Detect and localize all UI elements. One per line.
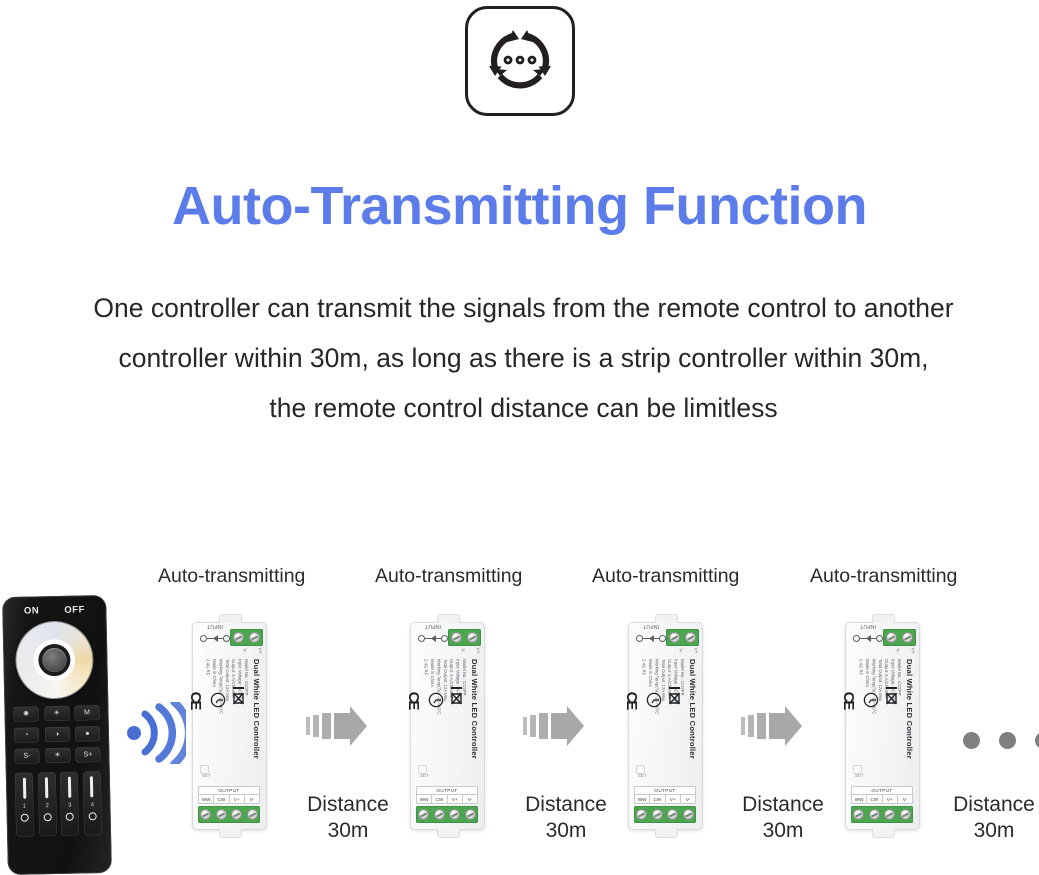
transmission-arrow-3 (741, 706, 803, 751)
distance-label-2: Distance 30m (512, 792, 620, 844)
zone-dot-icon[interactable] (66, 813, 74, 821)
input-marking: INPUT (418, 631, 448, 647)
terminal-screw (200, 809, 211, 820)
description-text: One controller can transmit the signals … (38, 283, 1009, 433)
remote-button-r1c2[interactable]: ☀ (44, 706, 69, 722)
zone-number: 4 (91, 802, 94, 808)
certification-marks: CE (840, 683, 898, 717)
out-term: WW (199, 795, 214, 803)
input-label: INPUT (636, 623, 666, 629)
transmission-arrow-2 (523, 706, 585, 751)
remote-button-r1c3[interactable]: M (74, 705, 99, 721)
input-polarity-labels: V- V+ (878, 648, 916, 653)
remote-off-button[interactable]: OFF (64, 604, 85, 615)
weee-crossed-bin-icon (450, 685, 463, 715)
out-term: V- (245, 795, 259, 803)
remote-button-row-2: ◔ ◑ ● (14, 726, 100, 743)
ce-mark: CE (623, 692, 640, 709)
auto-transmitting-label-2: Auto-transmitting (375, 565, 522, 588)
out-term: CW (867, 795, 882, 803)
terminal-screw (853, 809, 864, 820)
remote-zone-slider-2[interactable]: 2 (37, 772, 56, 836)
input-marking: INPUT (636, 631, 666, 647)
led-controller-3: INPUT V- V+ Dual White LED Controller Mo… (628, 622, 703, 830)
input-polarity-labels: V- V+ (225, 648, 263, 653)
terminal-screw (869, 809, 880, 820)
wireless-signal-icon (126, 702, 186, 769)
mount-tab-top (219, 614, 242, 623)
terminal-screw (884, 809, 895, 820)
remote-button-r2c1[interactable]: ◔ (14, 727, 39, 743)
top-icon-container (0, 6, 1039, 116)
rohs-circle-icon (863, 692, 879, 708)
distance-label-4: Distance 30m (940, 792, 1039, 844)
zone-dot-icon[interactable] (89, 812, 97, 820)
remote-zone-slider-1[interactable]: 1 (15, 773, 34, 837)
out-term: V- (681, 795, 695, 803)
terminal-screw (467, 632, 478, 643)
transmission-diagram: Auto-transmitting Auto-transmitting Auto… (0, 560, 1039, 875)
distance-word: Distance (294, 792, 402, 818)
terminal-screw (685, 632, 696, 643)
output-label: OUTPUT (199, 787, 259, 795)
input-terminal-block (666, 629, 699, 646)
output-legend: OUTPUT WW CW V+ V- (416, 786, 478, 804)
set-label: SET (420, 773, 429, 778)
terminal-screw (233, 632, 244, 643)
ce-mark: CE (840, 692, 857, 709)
out-term: WW (635, 795, 650, 803)
ce-mark: CE (187, 692, 204, 709)
distance-value: 30m (512, 818, 620, 844)
output-terminal-block (851, 806, 913, 823)
input-marking: INPUT (200, 631, 230, 647)
distance-label-3: Distance 30m (729, 792, 837, 844)
set-label: SET (855, 773, 864, 778)
terminal-screw (247, 809, 258, 820)
polarity-plus: V+ (476, 648, 481, 654)
terminal-screw (216, 809, 227, 820)
distance-word: Distance (729, 792, 837, 818)
remote-zone-sliders: 1 2 3 4 (15, 771, 102, 837)
terminal-screw (231, 809, 242, 820)
out-term: WW (417, 795, 432, 803)
terminal-screw (465, 809, 476, 820)
remote-button-r2c3[interactable]: ● (75, 726, 100, 742)
remote-button-row-3: S- ☀ S+ (14, 747, 100, 764)
mount-tab-top (872, 614, 895, 623)
weee-crossed-bin-icon (885, 685, 898, 715)
zone-dot-icon[interactable] (43, 813, 51, 821)
remote-button-r2c2[interactable]: ◑ (44, 727, 69, 743)
input-polarity-labels: V- V+ (661, 648, 699, 653)
terminal-screw (667, 809, 678, 820)
distance-label-1: Distance 30m (294, 792, 402, 844)
led-controller-2: INPUT V- V+ Dual White LED Controller Mo… (410, 622, 485, 830)
description-line-2: controller within 30m, as long as there … (38, 333, 1009, 383)
distance-word: Distance (512, 792, 620, 818)
rohs-circle-icon (210, 692, 226, 708)
output-terminal-names: WW CW V+ V- (635, 795, 695, 803)
output-terminal-names: WW CW V+ V- (852, 795, 912, 803)
certification-marks: CE (187, 683, 245, 717)
controller-title: Dual White LED Controller (905, 659, 914, 759)
terminal-screw (900, 809, 911, 820)
polarity-minus: V- (242, 648, 247, 652)
out-term: V- (898, 795, 912, 803)
remote-zone-slider-4[interactable]: 4 (83, 771, 102, 835)
terminal-screw (652, 809, 663, 820)
output-terminal-block (198, 806, 260, 823)
remote-button-r3c2[interactable]: ☀ (45, 748, 70, 764)
description-line-3: the remote control distance can be limit… (38, 383, 1009, 433)
auto-transmit-circular-arrows-icon (483, 24, 557, 98)
output-legend: OUTPUT WW CW V+ V- (851, 786, 913, 804)
polarity-minus: V- (678, 648, 683, 652)
out-term: CW (650, 795, 665, 803)
mount-tab-bottom (655, 829, 678, 838)
input-label: INPUT (853, 623, 883, 629)
input-label: INPUT (418, 623, 448, 629)
mount-tab-top (437, 614, 460, 623)
input-marking: INPUT (853, 631, 883, 647)
controller-title: Dual White LED Controller (470, 659, 479, 759)
controller-title: Dual White LED Controller (688, 659, 697, 759)
terminal-screw (669, 632, 680, 643)
polarity-plus: V+ (911, 648, 916, 654)
transmission-arrow-1 (306, 706, 368, 751)
input-label: INPUT (200, 623, 230, 629)
auto-transmitting-label-4: Auto-transmitting (810, 565, 957, 588)
remote-button-r3c3[interactable]: S+ (75, 747, 100, 763)
output-terminal-names: WW CW V+ V- (199, 795, 259, 803)
zone-number: 1 (23, 804, 26, 810)
out-term: V+ (448, 795, 463, 803)
controller-title: Dual White LED Controller (252, 659, 261, 759)
remote-zone-slider-3[interactable]: 3 (60, 772, 79, 836)
distance-value: 30m (294, 818, 402, 844)
polarity-plus: V+ (258, 648, 263, 654)
terminal-screw (451, 632, 462, 643)
weee-crossed-bin-icon (232, 685, 245, 715)
auto-transmitting-label-1: Auto-transmitting (158, 565, 305, 588)
input-terminal-block (883, 629, 916, 646)
polarity-minus: V- (895, 648, 900, 652)
remote-button-r1c1[interactable]: ✺ (13, 706, 38, 722)
continuation-dot-1 (963, 732, 980, 749)
zone-number: 2 (45, 803, 48, 809)
zone-dot-icon[interactable] (21, 814, 29, 822)
slider-bar (68, 777, 71, 798)
terminal-screw (886, 632, 897, 643)
remote-button-row-1: ✺ ☀ M (13, 705, 99, 722)
output-label: OUTPUT (417, 787, 477, 795)
out-term: V+ (883, 795, 898, 803)
remote-power-row: ON OFF (2, 604, 106, 617)
led-controller-4: INPUT V- V+ Dual White LED Controller Mo… (845, 622, 920, 830)
zone-number: 3 (68, 803, 71, 809)
terminal-screw (434, 809, 445, 820)
slider-bar (45, 777, 48, 798)
output-label: OUTPUT (635, 787, 695, 795)
continuation-dot-3 (1035, 732, 1039, 749)
polarity-plus: V+ (694, 648, 699, 654)
distance-value: 30m (729, 818, 837, 844)
out-term: V+ (666, 795, 681, 803)
mount-tab-top (655, 614, 678, 623)
set-label: SET (202, 773, 211, 778)
certification-marks: CE (405, 683, 463, 717)
ce-mark: CE (405, 692, 422, 709)
input-polarity-labels: V- V+ (443, 648, 481, 653)
set-label: SET (638, 773, 647, 778)
output-legend: OUTPUT WW CW V+ V- (198, 786, 260, 804)
page-title: Auto-Transmitting Function (0, 175, 1039, 237)
slider-bar (22, 778, 25, 799)
mount-tab-bottom (872, 829, 895, 838)
color-temperature-wheel[interactable] (16, 621, 94, 699)
mount-tab-bottom (437, 829, 460, 838)
remote-button-r3c1[interactable]: S- (14, 748, 39, 764)
rohs-circle-icon (428, 692, 444, 708)
terminal-screw (902, 632, 913, 643)
auto-transmitting-label-3: Auto-transmitting (592, 565, 739, 588)
output-terminal-block (416, 806, 478, 823)
distance-word: Distance (940, 792, 1039, 818)
auto-transmit-badge (465, 6, 575, 116)
weee-crossed-bin-icon (668, 685, 681, 715)
terminal-screw (449, 809, 460, 820)
description-line-1: One controller can transmit the signals … (38, 283, 1009, 333)
terminal-screw (418, 809, 429, 820)
input-terminal-block (448, 629, 481, 646)
remote-button-grid: ✺ ☀ M ◔ ◑ ● S- ☀ S+ (13, 705, 100, 770)
rohs-circle-icon (646, 692, 662, 708)
certification-marks: CE (623, 683, 681, 717)
output-label: OUTPUT (852, 787, 912, 795)
terminal-screw (683, 809, 694, 820)
led-controller-1: INPUT V- V+ Dual White LED Controller Mo… (192, 622, 267, 830)
polarity-minus: V- (460, 648, 465, 652)
out-term: CW (214, 795, 229, 803)
out-term: V+ (230, 795, 245, 803)
out-term: CW (432, 795, 447, 803)
out-term: WW (852, 795, 867, 803)
mount-tab-bottom (219, 829, 242, 838)
terminal-screw (249, 632, 260, 643)
remote-on-button[interactable]: ON (24, 605, 39, 616)
continuation-dots (963, 732, 1039, 749)
page-root: Auto-Transmitting Function One controlle… (0, 0, 1039, 875)
out-term: V- (463, 795, 477, 803)
slider-bar (90, 776, 93, 797)
output-terminal-block (634, 806, 696, 823)
continuation-dot-2 (999, 732, 1016, 749)
input-terminal-block (230, 629, 263, 646)
remote-control[interactable]: ON OFF ✺ ☀ M ◔ ◑ ● S- ☀ S+ (2, 595, 112, 875)
output-legend: OUTPUT WW CW V+ V- (634, 786, 696, 804)
terminal-screw (636, 809, 647, 820)
output-terminal-names: WW CW V+ V- (417, 795, 477, 803)
distance-value: 30m (940, 818, 1039, 844)
